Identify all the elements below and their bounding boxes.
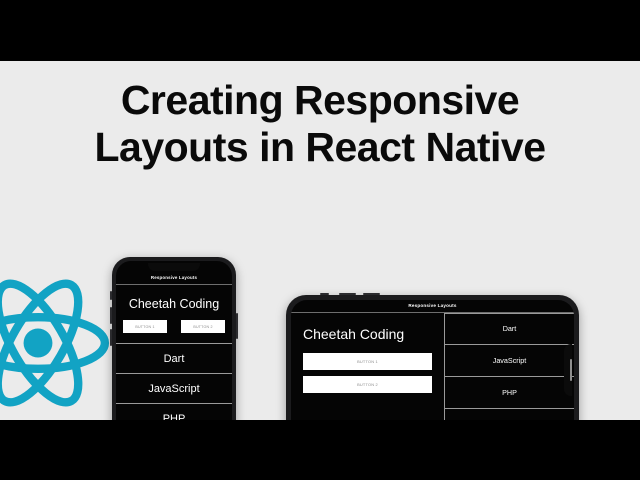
button-1-portrait[interactable]: BUTTON 1 bbox=[123, 320, 167, 333]
brand-heading-portrait: Cheetah Coding bbox=[116, 285, 232, 320]
app-header-portrait: Responsive Layouts bbox=[116, 272, 232, 285]
button-2-landscape[interactable]: BUTTON 2 bbox=[303, 376, 432, 393]
title-line-1: Creating Responsive bbox=[0, 77, 640, 124]
landscape-phone-mockup: Responsive Layouts Cheetah Coding BUTTON… bbox=[286, 295, 579, 420]
slide-content: Creating Responsive Layouts in React Nat… bbox=[0, 61, 640, 420]
mute-switch-portrait[interactable] bbox=[110, 291, 112, 300]
brand-heading-landscape: Cheetah Coding bbox=[303, 326, 432, 353]
volume-up-portrait[interactable] bbox=[110, 307, 112, 324]
letterbox-bottom bbox=[0, 420, 640, 480]
list-item[interactable]: C++ bbox=[445, 409, 574, 420]
power-button-portrait[interactable] bbox=[236, 313, 238, 339]
portrait-phone-screen: Responsive Layouts Cheetah Coding BUTTON… bbox=[116, 261, 232, 420]
page-title: Creating Responsive Layouts in React Nat… bbox=[0, 77, 640, 171]
list-item[interactable]: JavaScript bbox=[116, 373, 232, 403]
list-item[interactable]: PHP bbox=[445, 377, 574, 409]
mute-switch-landscape[interactable] bbox=[320, 293, 329, 295]
notch-portrait bbox=[148, 263, 200, 271]
list-item[interactable]: Dart bbox=[116, 343, 232, 373]
button-row-portrait: BUTTON 1 BUTTON 2 bbox=[116, 320, 232, 343]
list-item[interactable]: Dart bbox=[445, 313, 574, 346]
volume-up-landscape[interactable] bbox=[339, 293, 356, 295]
slide-stage: Creating Responsive Layouts in React Nat… bbox=[0, 0, 640, 480]
landscape-body: Cheetah Coding BUTTON 1 BUTTON 2 Dart Ja… bbox=[291, 313, 574, 421]
left-pane-landscape: Cheetah Coding BUTTON 1 BUTTON 2 bbox=[291, 313, 445, 421]
list-scrollbar[interactable] bbox=[570, 359, 572, 381]
react-logo-icon bbox=[0, 273, 114, 413]
landscape-phone-screen: Responsive Layouts Cheetah Coding BUTTON… bbox=[291, 300, 574, 420]
right-pane-landscape: Dart JavaScript PHP C++ bbox=[445, 313, 574, 421]
letterbox-top bbox=[0, 0, 640, 61]
app-header-landscape: Responsive Layouts bbox=[291, 300, 574, 313]
list-item[interactable]: JavaScript bbox=[445, 345, 574, 377]
portrait-phone-mockup: Responsive Layouts Cheetah Coding BUTTON… bbox=[112, 257, 236, 420]
list-item[interactable]: PHP bbox=[116, 403, 232, 420]
volume-down-landscape[interactable] bbox=[363, 293, 380, 295]
title-line-2: Layouts in React Native bbox=[0, 124, 640, 171]
button-1-landscape[interactable]: BUTTON 1 bbox=[303, 353, 432, 370]
volume-down-portrait[interactable] bbox=[110, 329, 112, 346]
button-2-portrait[interactable]: BUTTON 2 bbox=[181, 320, 225, 333]
